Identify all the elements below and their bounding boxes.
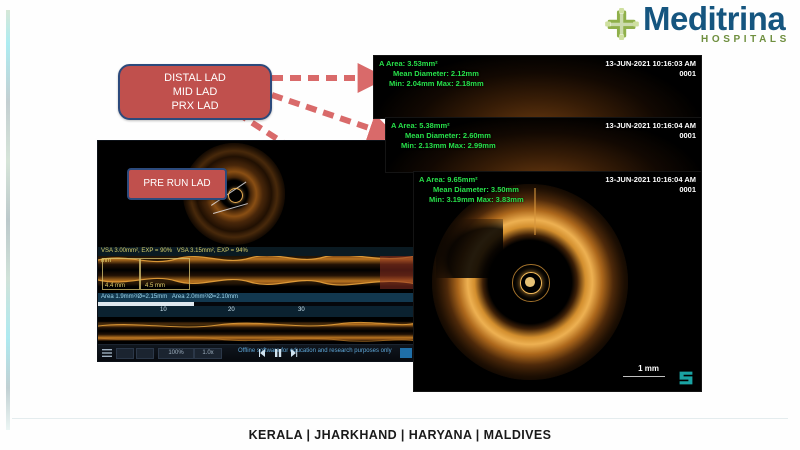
area-value-prx: A Area: 9.65mm² xyxy=(419,175,524,185)
area-left-readout: Area 1.9mm²/Ø=2.15mm xyxy=(98,294,167,300)
meditrina-logo: Meditrina HOSPITALS xyxy=(605,4,795,46)
logo-wordmark: Meditrina xyxy=(643,2,785,35)
mean-diameter-distal: Mean Diameter: 2.12mm xyxy=(379,69,484,79)
slide-canvas: Meditrina HOSPITALS DISTAL LAD MID LAD P… xyxy=(0,0,800,450)
callout-prerun-label: PRE RUN LAD xyxy=(143,177,210,191)
scale-bar-rule xyxy=(623,376,665,377)
callout-pre-run-lad[interactable]: PRE RUN LAD xyxy=(127,168,227,200)
shadow-artifact xyxy=(436,219,503,278)
measurement-readout-mid: A Area: 5.38mm² Mean Diameter: 2.60mm Mi… xyxy=(391,121,496,151)
vsa-left-readout: VSA 3.00mm², EXP = 90% xyxy=(98,248,172,254)
measurement-readout-distal: A Area: 3.53mm² Mean Diameter: 2.12mm Mi… xyxy=(379,59,484,89)
min-max-distal: Min: 2.04mm Max: 2.18mm xyxy=(379,79,484,89)
ruler-tick-10: 10 xyxy=(160,307,167,313)
timestamp-distal: 13-JUN-2021 10:16:03 AM xyxy=(605,59,696,69)
footer-locations: KERALA | JHARKHAND | HARYANA | MALDIVES xyxy=(0,428,800,442)
timestamp-block-distal: 13-JUN-2021 10:16:03 AM 0001 xyxy=(605,59,696,79)
vsa-right-readout: VSA 3.15mm², EXP = 94% xyxy=(174,248,248,254)
menu-icon[interactable] xyxy=(102,348,112,358)
min-max-mid: Min: 2.13mm Max: 2.99mm xyxy=(391,141,496,151)
timestamp-prx: 13-JUN-2021 10:16:04 AM xyxy=(605,175,696,185)
step-forward-icon[interactable] xyxy=(290,349,298,357)
lmode-header-bar: VSA 3.00mm², EXP = 90% VSA 3.15mm², EXP … xyxy=(98,247,416,256)
toolbar-status-chip[interactable] xyxy=(400,348,412,358)
frame-number-mid: 0001 xyxy=(605,131,696,141)
toolbar-button-a[interactable] xyxy=(116,348,134,359)
pause-icon[interactable] xyxy=(274,349,282,357)
frame-number-distal: 0001 xyxy=(605,69,696,79)
lmode-axis-label: mm xyxy=(101,258,111,264)
logo-subtitle: HOSPITALS xyxy=(701,34,790,45)
zoom-select[interactable]: 100% xyxy=(158,348,194,359)
guidewire-artifact xyxy=(534,188,536,235)
toolbar-button-b[interactable] xyxy=(136,348,154,359)
areas-header-bar: Area 1.9mm²/Ø=2.15mm Area 2.0mm²/Ø=2.10m… xyxy=(98,293,416,302)
catheter-core xyxy=(525,277,535,287)
oct-panel-distal-lad: A Area: 3.53mm² Mean Diameter: 2.12mm Mi… xyxy=(373,55,702,119)
callout-lad-segments[interactable]: DISTAL LAD MID LAD PRX LAD xyxy=(118,64,272,120)
area-right-readout: Area 2.0mm²/Ø=2.10mm xyxy=(169,294,238,300)
lmode-strip-upper: VSA 3.00mm², EXP = 90% VSA 3.15mm², EXP … xyxy=(98,247,416,293)
timestamp-block-mid: 13-JUN-2021 10:16:04 AM 0001 xyxy=(605,121,696,141)
footer-divider xyxy=(12,418,788,419)
scale-bar-label: 1 mm xyxy=(638,364,659,373)
min-max-prx: Min: 3.19mm Max: 3.83mm xyxy=(419,195,524,205)
arrow-to-mid-panel xyxy=(272,95,378,131)
roi-label-left: 4.4 mm xyxy=(105,283,125,289)
console-toolbar: 100% 1.0x Offline software for education… xyxy=(98,344,416,361)
length-ruler: 10 20 30 xyxy=(98,306,416,317)
oct-panel-mid-lad: A Area: 5.38mm² Mean Diameter: 2.60mm Mi… xyxy=(385,117,702,173)
callout-line-mid: MID LAD xyxy=(173,85,218,99)
timestamp-block-prx: 13-JUN-2021 10:16:04 AM 0001 xyxy=(605,175,696,195)
oct-image-prx xyxy=(432,184,628,380)
speed-select[interactable]: 1.0x xyxy=(194,348,222,359)
step-back-icon[interactable] xyxy=(258,349,266,357)
ruler-tick-30: 30 xyxy=(298,307,305,313)
frame-number-prx: 0001 xyxy=(605,185,696,195)
measurement-readout-prx: A Area: 9.65mm² Mean Diameter: 3.50mm Mi… xyxy=(419,175,524,205)
abbott-logo-icon xyxy=(677,370,695,386)
mean-diameter-mid: Mean Diameter: 2.60mm xyxy=(391,131,496,141)
lumen-profile-trace-lower xyxy=(98,317,416,345)
area-value-distal: A Area: 3.53mm² xyxy=(379,59,484,69)
callout-line-distal: DISTAL LAD xyxy=(164,71,226,85)
area-value-mid: A Area: 5.38mm² xyxy=(391,121,496,131)
lmode-strip-lower xyxy=(98,317,416,345)
callout-line-prx: PRX LAD xyxy=(171,99,218,113)
roi-label-right: 4.5 mm xyxy=(145,283,165,289)
timestamp-mid: 13-JUN-2021 10:16:04 AM xyxy=(605,121,696,131)
medical-cross-icon xyxy=(605,8,639,40)
measurement-line-b xyxy=(213,203,248,214)
ruler-tick-20: 20 xyxy=(228,307,235,313)
mean-diameter-prx: Mean Diameter: 3.50mm xyxy=(419,185,524,195)
left-accent-stripe xyxy=(6,10,10,430)
oct-panel-prx-lad: A Area: 9.65mm² Mean Diameter: 3.50mm Mi… xyxy=(413,171,702,392)
